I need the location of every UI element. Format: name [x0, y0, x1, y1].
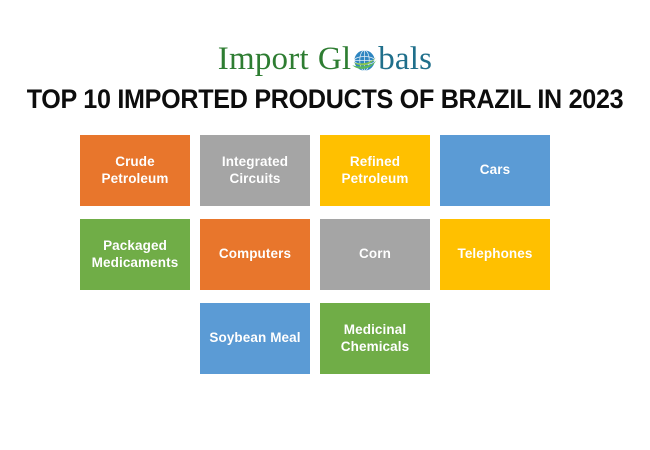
product-tile-label: Medicinal Chemicals [324, 322, 426, 356]
product-tile-label: Cars [444, 162, 546, 179]
product-tile-label: Refined Petroleum [324, 154, 426, 188]
brand-logo-word-import: Import [218, 43, 309, 76]
product-tile[interactable]: Refined Petroleum [320, 135, 430, 206]
brand-logo-lockup: Import Gl bals [218, 43, 432, 76]
product-row-1: Crude Petroleum Integrated Circuits Refi… [80, 135, 550, 206]
product-tile[interactable]: Telephones [440, 219, 550, 290]
product-tile-label: Telephones [444, 246, 546, 263]
page-title: TOP 10 IMPORTED PRODUCTS OF BRAZIL IN 20… [23, 84, 628, 115]
product-tile-label: Integrated Circuits [204, 154, 306, 188]
product-tile[interactable]: Packaged Medicaments [80, 219, 190, 290]
product-tile[interactable]: Soybean Meal [200, 303, 310, 374]
brand-logo: Import Gl bals [0, 36, 650, 82]
product-tile[interactable]: Crude Petroleum [80, 135, 190, 206]
product-tile-label: Soybean Meal [204, 330, 306, 347]
product-grid: Crude Petroleum Integrated Circuits Refi… [80, 135, 550, 387]
product-tile-label: Computers [204, 246, 306, 263]
product-tile[interactable]: Medicinal Chemicals [320, 303, 430, 374]
product-row-2: Packaged Medicaments Computers Corn Tele… [80, 219, 550, 290]
product-tile-label: Crude Petroleum [84, 154, 186, 188]
product-tile[interactable]: Cars [440, 135, 550, 206]
product-tile-label: Corn [324, 246, 426, 263]
product-tile[interactable]: Corn [320, 219, 430, 290]
brand-logo-word-gl: Gl [318, 43, 351, 76]
product-tile-label: Packaged Medicaments [84, 238, 186, 272]
infographic-canvas: Import Gl bals TOP 10 IMPORT [0, 0, 650, 450]
product-tile[interactable]: Integrated Circuits [200, 135, 310, 206]
product-row-3: Soybean Meal Medicinal Chemicals [80, 303, 550, 374]
globe-icon [351, 47, 378, 74]
product-tile[interactable]: Computers [200, 219, 310, 290]
brand-logo-word-bals: bals [378, 43, 432, 76]
